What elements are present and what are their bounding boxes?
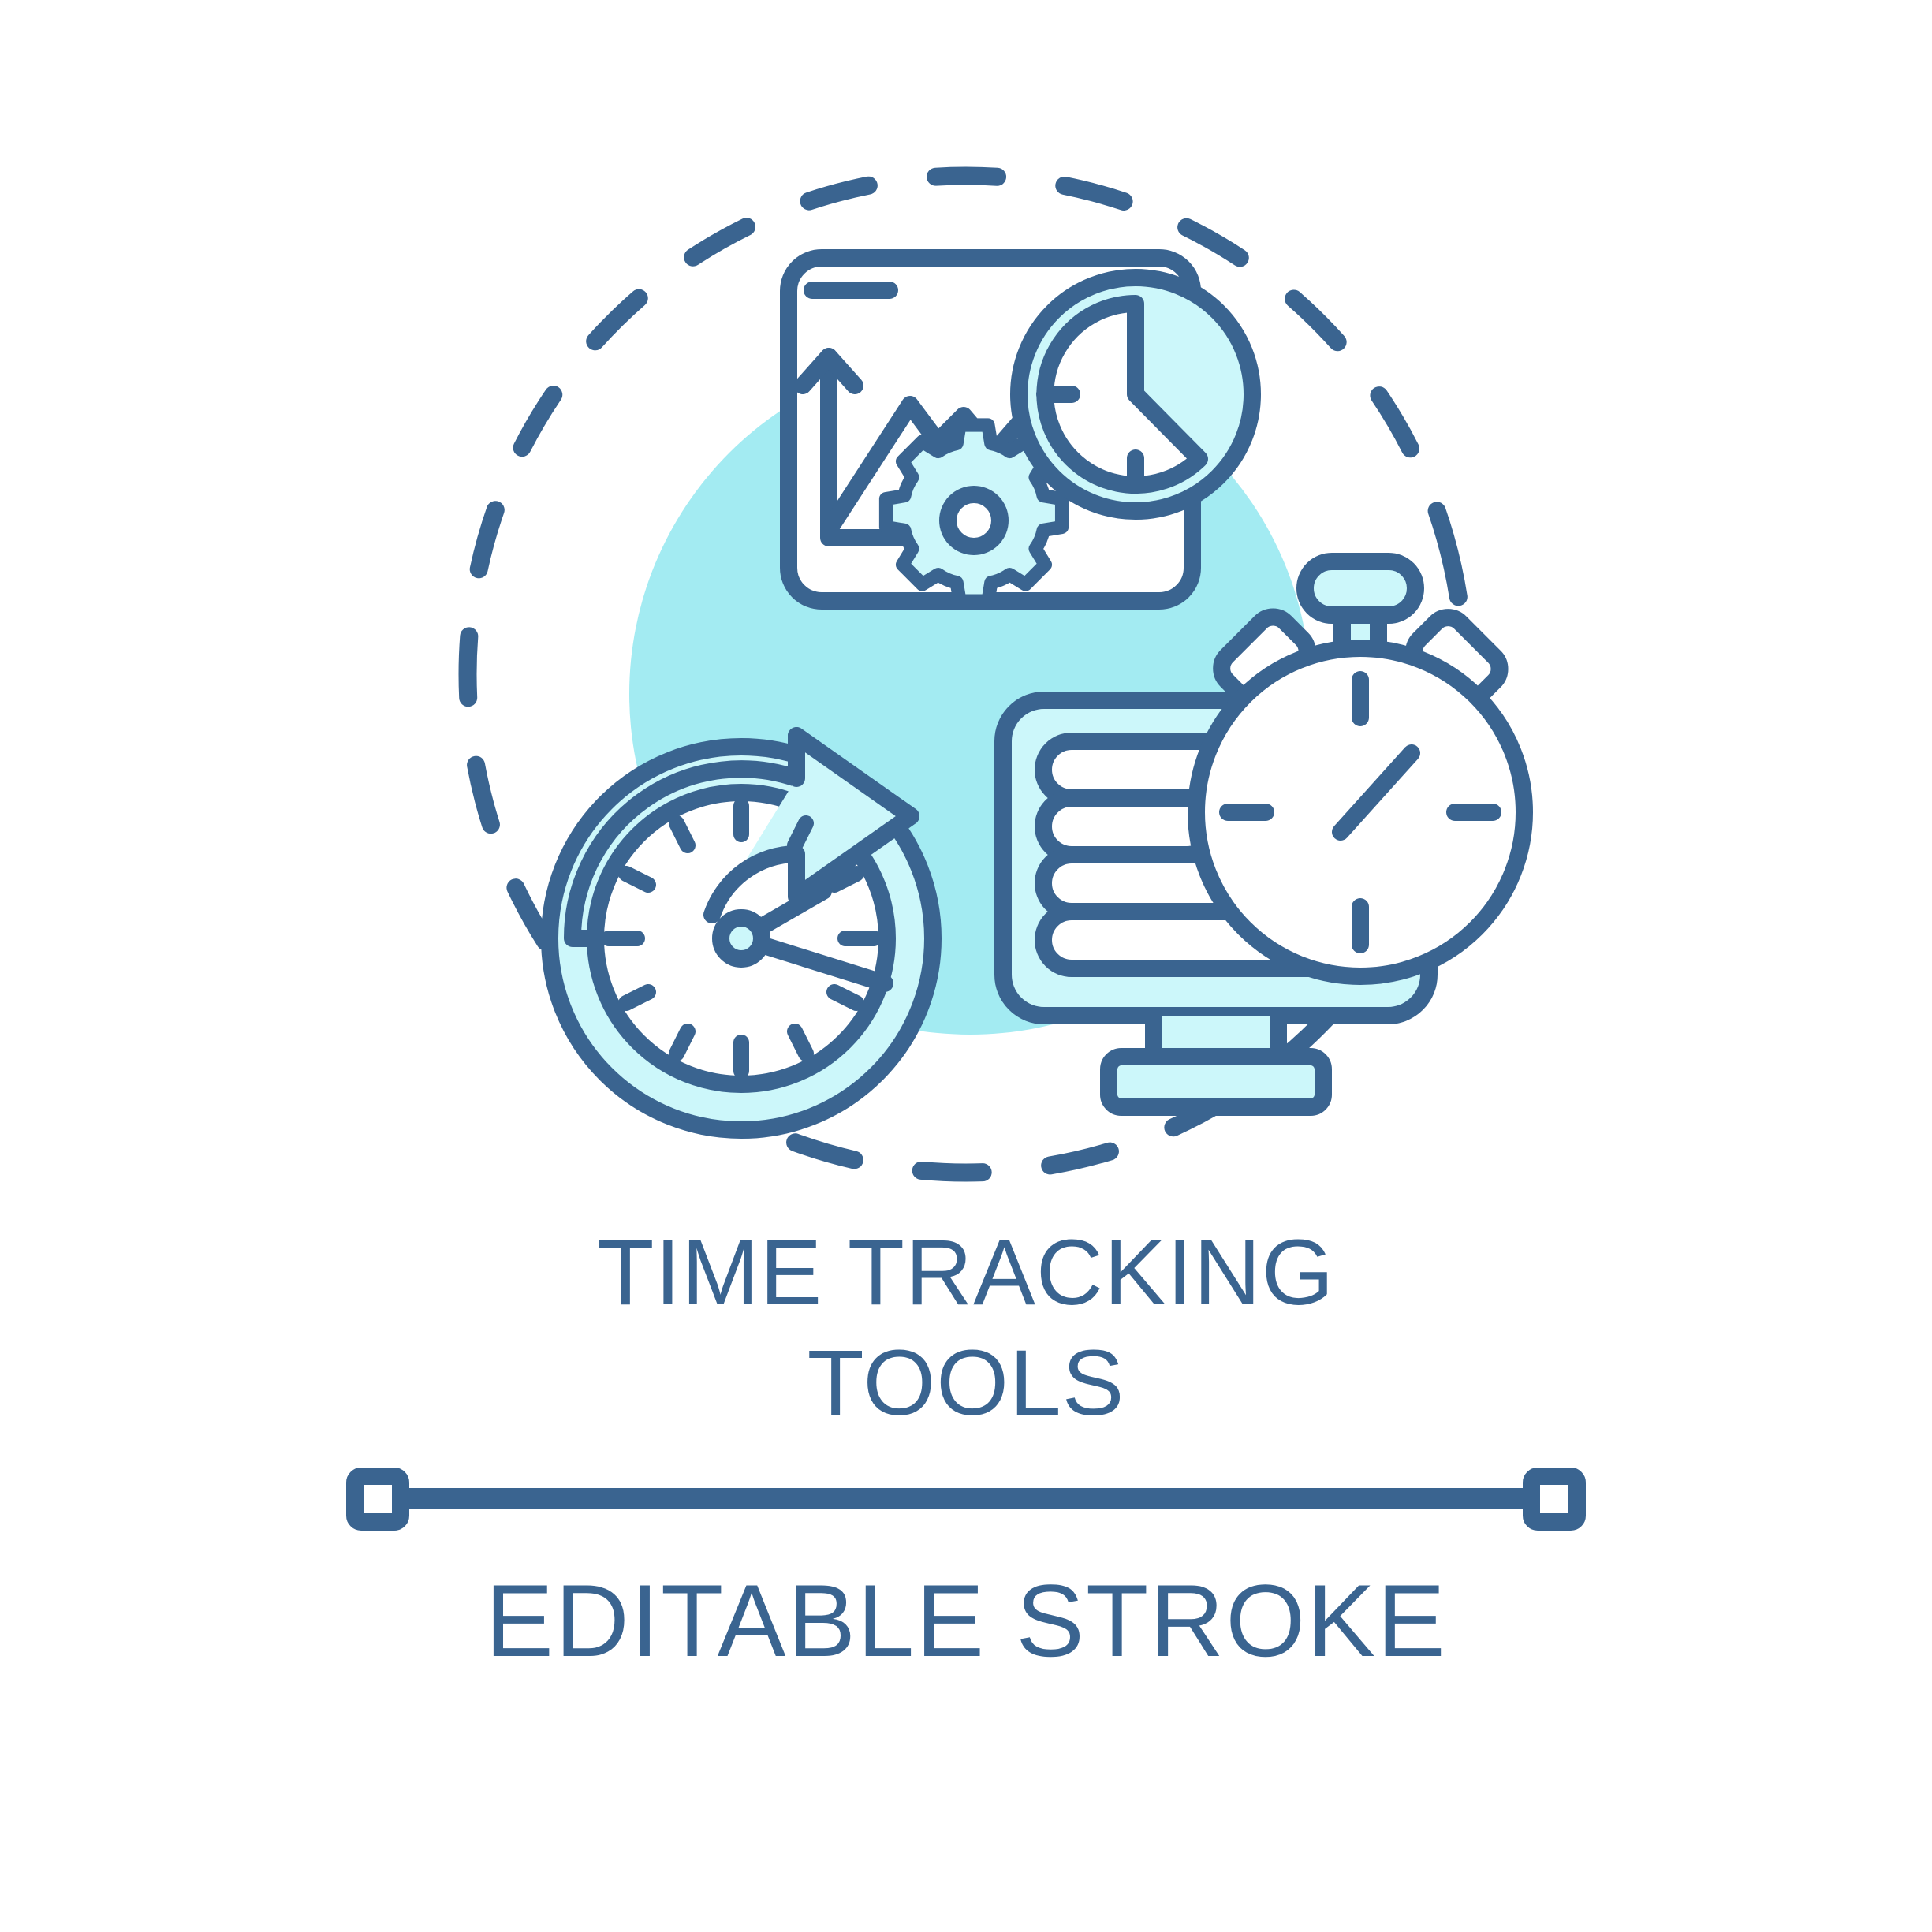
pie-clock-icon	[1019, 278, 1252, 511]
clock-tick-4	[834, 992, 856, 1003]
clock-with-refresh-arrow	[550, 736, 933, 1130]
time-tracking-tools-illustration	[0, 0, 1932, 1932]
concept-icon-canvas: TIME TRACKING TOOLS EDITABLE STROKE	[0, 0, 1932, 1932]
stroke-indicator-handle-right	[1531, 1476, 1577, 1522]
gear-center-hole	[948, 494, 1000, 546]
clock-tick-7	[677, 1031, 688, 1054]
stroke-width-indicator	[355, 1476, 1577, 1522]
monitor-stand-base	[1109, 1057, 1323, 1107]
clock-tick-11	[677, 823, 688, 845]
stopwatch-crown-button	[1305, 561, 1415, 615]
clock-tick-1	[795, 823, 806, 845]
clock-tick-2	[834, 874, 856, 885]
clock-center-pin	[721, 918, 762, 959]
clock-tick-5	[795, 1031, 806, 1054]
stroke-indicator-handle-left	[355, 1476, 401, 1522]
clock-tick-8	[626, 992, 648, 1003]
clock-tick-10	[626, 874, 648, 885]
